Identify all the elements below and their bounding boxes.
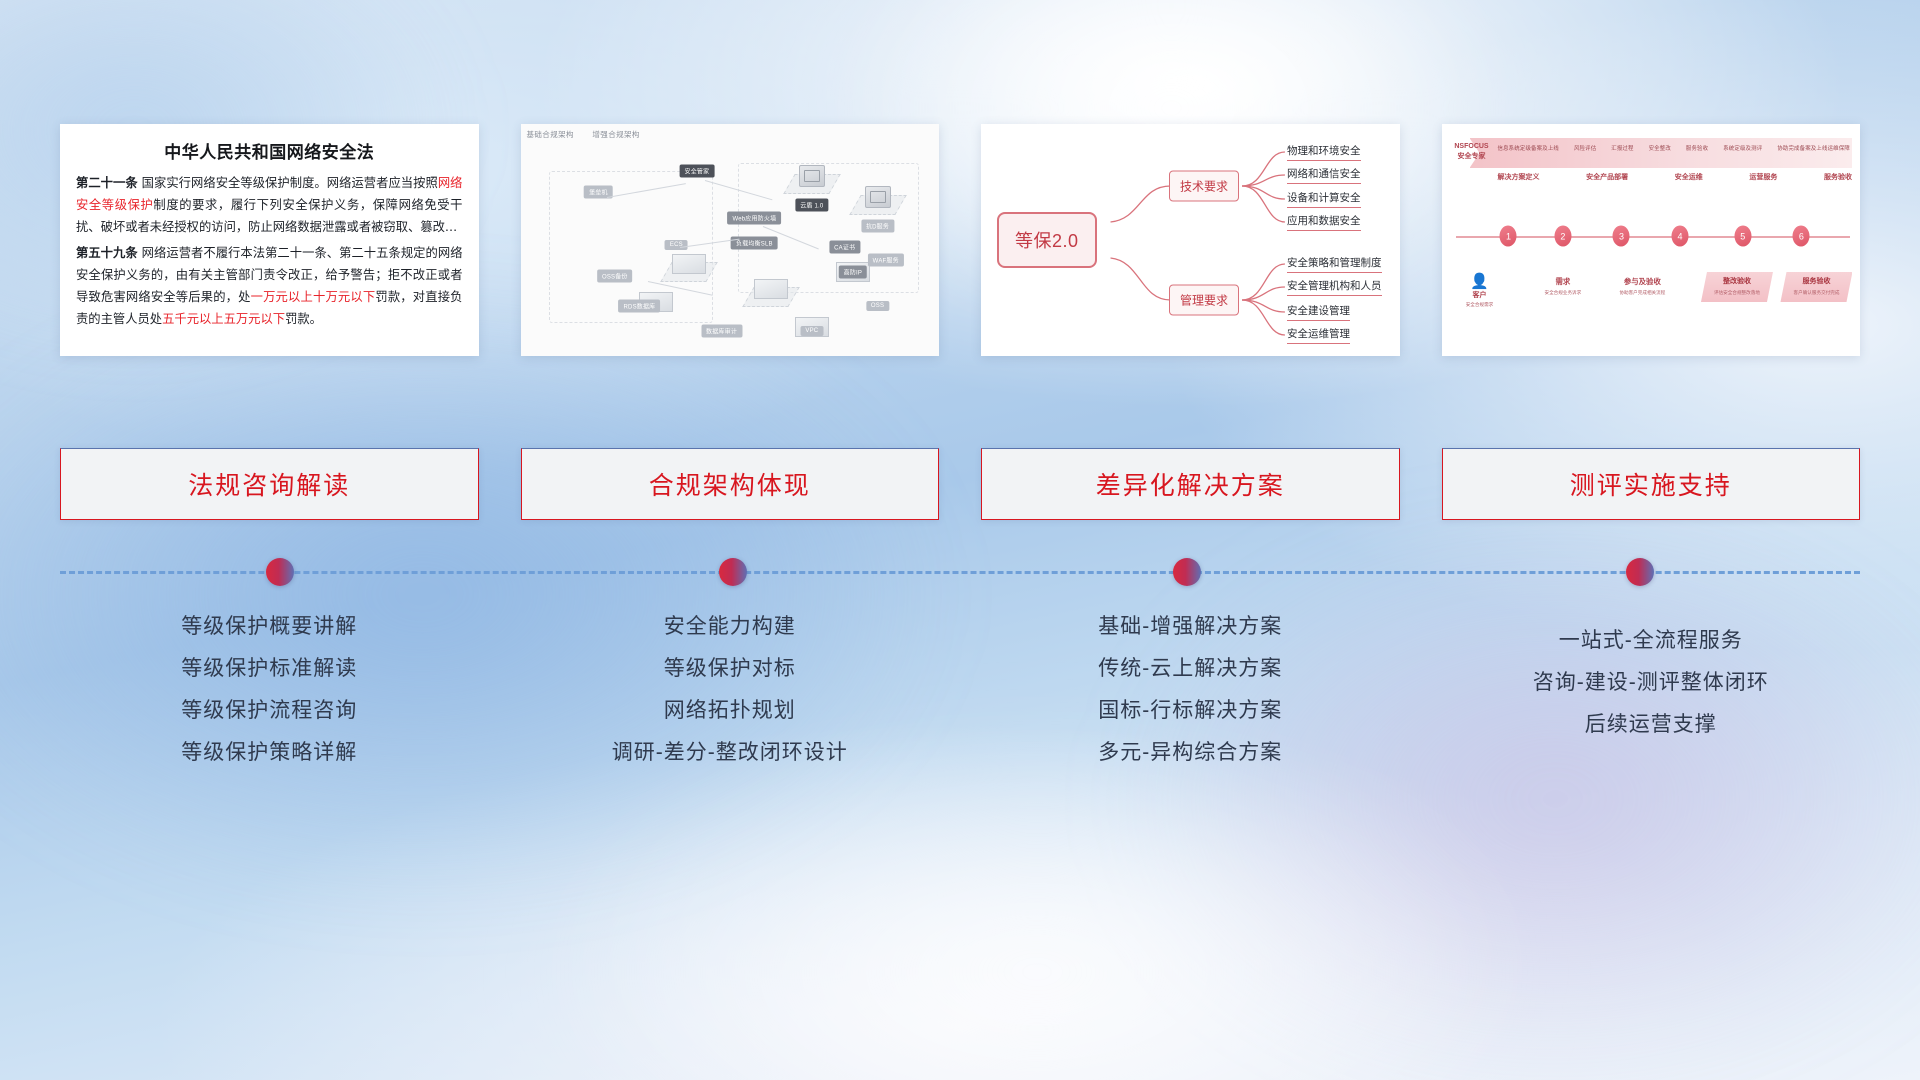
card-roadmap[interactable]: NSFOCUS 安全专家 信息系统定级备案及上线 风险评估 汇报过程 安全整改 …: [1442, 124, 1861, 356]
law-article-59: 第五十九条 网络运营者不履行本法第二十一条、第二十五条规定的网络安全保护义务的，…: [76, 242, 463, 330]
card-mindmap[interactable]: 等保2.0 技术要求 管理要求 物理和环境安全 网络和通信安全 设备和计算安全 …: [981, 124, 1400, 356]
architecture-node-10: OSS备份: [597, 270, 633, 283]
law-article-21-text-1: 国家实行网络安全等级保护制度。网络运营者应当按照: [138, 176, 438, 190]
roadmap-actor-client-name: 客户: [1452, 290, 1508, 300]
list-item: 调研-差分-整改闭环设计: [521, 732, 940, 774]
architecture-node-2: 云盾 1.0: [795, 199, 828, 212]
architecture-node-9: 高防IP: [839, 266, 867, 279]
list-item: 等级保护对标: [521, 648, 940, 690]
architecture-node-13: OSS: [866, 301, 889, 311]
background-glow-bottom: [538, 734, 1536, 1080]
roadmap-ribbon-item-4: 服务验收: [1686, 144, 1708, 152]
list-row: 等级保护概要讲解 等级保护标准解读 等级保护流程咨询 等级保护策略详解 安全能力…: [60, 600, 1860, 774]
roadmap-phase-1: 安全产品部署: [1586, 172, 1628, 182]
list-item: 一站式-全流程服务: [1442, 620, 1861, 662]
mindmap-leaf-tech-2: 设备和计算安全: [1287, 190, 1361, 208]
law-article-21-label: 第二十一条: [76, 176, 138, 190]
banner-evaluation-support[interactable]: 测评实施支持: [1442, 448, 1861, 520]
banner-differentiated-solution[interactable]: 差异化解决方案: [981, 448, 1400, 520]
roadmap-ribbon-items: 信息系统定级备案及上线 风险评估 汇报过程 安全整改 服务验收 系统定级及测评 …: [1498, 144, 1851, 152]
roadmap-ribbon-item-2: 汇报过程: [1611, 144, 1633, 152]
law-article-59-text-3: 罚款。: [285, 312, 322, 326]
roadmap-step-4: 4: [1672, 226, 1689, 247]
roadmap-actor-participate-desc: 协助客户完成相关流程: [1619, 289, 1665, 296]
architecture-node-11: RDS数据库: [619, 299, 661, 312]
law-article-21: 第二十一条 国家实行网络安全等级保护制度。网络运营者应当按照网络安全等级保护制度…: [76, 172, 463, 238]
preview-cards-row: 中华人民共和国网络安全法 第二十一条 国家实行网络安全等级保护制度。网络运营者应…: [60, 124, 1860, 356]
roadmap-step-5: 5: [1734, 226, 1751, 247]
architecture-node-8: CA证书: [829, 241, 860, 254]
list-item: 后续运营支撑: [1442, 704, 1861, 746]
roadmap-brand: NSFOCUS 安全专家: [1450, 142, 1494, 162]
roadmap-ribbon-item-3: 安全整改: [1649, 144, 1671, 152]
roadmap-ribbon-item-0: 信息系统定级备案及上线: [1498, 144, 1560, 152]
list-item: 基础-增强解决方案: [981, 606, 1400, 648]
roadmap-actor-demand-desc: 安全合规业务诉求: [1544, 289, 1581, 296]
list-column-2: 基础-增强解决方案 传统-云上解决方案 国标-行标解决方案 多元-异构综合方案: [981, 600, 1400, 774]
roadmap-actor-participate-name: 参与及验收: [1619, 276, 1665, 287]
list-item: 多元-异构综合方案: [981, 732, 1400, 774]
list-item: 网络拓扑规划: [521, 690, 940, 732]
list-item: 国标-行标解决方案: [981, 690, 1400, 732]
roadmap-step-2: 2: [1554, 226, 1571, 247]
roadmap-ribbon-item-6: 协助完成备案及上线运维保障: [1777, 144, 1850, 152]
mindmap-leaf-tech-3: 应用和数据安全: [1287, 213, 1361, 231]
roadmap-step-3: 3: [1613, 226, 1630, 247]
roadmap-phase-0: 解决方案定义: [1498, 172, 1540, 182]
mindmap-leaf-mgmt-3: 安全运维管理: [1287, 326, 1350, 344]
roadmap-ribbon: [1470, 138, 1853, 168]
banner-label-2: 差异化解决方案: [1096, 466, 1285, 502]
mindmap-leaf-mgmt-0: 安全策略和管理制度: [1287, 255, 1382, 273]
architecture-node-4: WAF服务: [868, 253, 904, 266]
roadmap-phase-2: 安全运维: [1675, 172, 1703, 182]
architecture-node-1: 安全管家: [680, 165, 715, 178]
law-title: 中华人民共和国网络安全法: [76, 138, 463, 163]
architecture-server-1: [799, 165, 825, 187]
roadmap-actor-participate: 参与及验收 协助客户完成相关流程: [1619, 276, 1665, 296]
list-item: 等级保护策略详解: [60, 732, 479, 774]
architecture-canvas: 堡垒机 安全管家 云盾 1.0 抗D服务 WAF服务 Web应用防火墙 负载均衡…: [525, 142, 936, 352]
list-item: 咨询-建设-测评整体闭环: [1442, 662, 1861, 704]
roadmap-brand-name: NSFOCUS: [1450, 142, 1494, 152]
architecture-node-12: VPC: [800, 326, 823, 336]
timeline-dot-2[interactable]: [1173, 558, 1201, 586]
list-item: 传统-云上解决方案: [981, 648, 1400, 690]
list-column-3: 一站式-全流程服务 咨询-建设-测评整体闭环 后续运营支撑: [1442, 600, 1861, 774]
architecture-header-left: 基础合规架构: [527, 130, 574, 139]
list-column-0: 等级保护概要讲解 等级保护标准解读 等级保护流程咨询 等级保护策略详解: [60, 600, 479, 774]
list-item: 安全能力构建: [521, 606, 940, 648]
architecture-header-right: 增强合规架构: [592, 130, 639, 139]
law-article-59-highlight-1: 一万元以上十万元以下: [251, 290, 376, 304]
roadmap-actor-demand: 需求 安全合规业务诉求: [1544, 276, 1581, 296]
list-item: 等级保护标准解读: [60, 648, 479, 690]
roadmap-phase-3: 运营服务: [1749, 172, 1777, 182]
roadmap-step-6: 6: [1793, 226, 1810, 247]
architecture-server-2: [865, 186, 891, 208]
roadmap-card-rectify-sub: 评估安全合规整改落地: [1710, 289, 1764, 297]
list-item: 等级保护流程咨询: [60, 690, 479, 732]
banner-compliance-architecture[interactable]: 合规架构体现: [521, 448, 940, 520]
list-item: 等级保护概要讲解: [60, 606, 479, 648]
timeline: [60, 558, 1860, 586]
law-article-59-label: 第五十九条: [76, 246, 138, 260]
roadmap-actor-client-desc: 安全合规需求: [1452, 301, 1508, 308]
architecture-node-5: Web应用防火墙: [727, 211, 781, 224]
architecture-node-14: 数据库审计: [701, 325, 742, 338]
roadmap-actor-client: 👤 客户 安全合规需求: [1452, 274, 1508, 308]
roadmap-phase-4: 服务验收: [1824, 172, 1852, 182]
architecture-node-7: ECS: [665, 240, 688, 250]
banner-label-0: 法规咨询解读: [188, 466, 350, 502]
mindmap-leaf-tech-0: 物理和环境安全: [1287, 143, 1361, 161]
mindmap-leaf-mgmt-1: 安全管理机构和人员: [1287, 278, 1382, 296]
roadmap-card-rectify: 整改验收 评估安全合规整改落地: [1701, 272, 1773, 302]
roadmap-card-accept: 服务验收 客户确认服务交付完成: [1780, 272, 1852, 302]
roadmap-brand-sub: 安全专家: [1450, 152, 1494, 162]
mindmap-leaf-mgmt-2: 安全建设管理: [1287, 303, 1350, 321]
person-icon: 👤: [1452, 274, 1508, 290]
law-article-59-highlight-2: 五千元以上五万元以下: [162, 312, 285, 326]
banner-regulation-consulting[interactable]: 法规咨询解读: [60, 448, 479, 520]
mindmap-root: 等保2.0: [997, 212, 1097, 268]
timeline-dot-1[interactable]: [719, 558, 747, 586]
roadmap-card-accept-title: 服务验收: [1789, 277, 1843, 287]
roadmap-ribbon-item-5: 系统定级及测评: [1723, 144, 1762, 152]
roadmap-actor-demand-name: 需求: [1544, 276, 1581, 287]
timeline-dashed-line: [60, 571, 1860, 574]
roadmap-card-accept-sub: 客户确认服务交付完成: [1789, 289, 1843, 297]
architecture-hex-1: [672, 254, 706, 274]
roadmap-card-rectify-title: 整改验收: [1710, 277, 1764, 287]
banner-row: 法规咨询解读 合规架构体现 差异化解决方案 测评实施支持: [60, 448, 1860, 520]
architecture-header: 基础合规架构 增强合规架构: [527, 129, 656, 140]
roadmap-ribbon-item-1: 风险评估: [1574, 144, 1596, 152]
mindmap-branch-management: 管理要求: [1169, 285, 1239, 316]
timeline-dot-0[interactable]: [266, 558, 294, 586]
card-law-document[interactable]: 中华人民共和国网络安全法 第二十一条 国家实行网络安全等级保护制度。网络运营者应…: [60, 124, 479, 356]
mindmap-leaf-tech-1: 网络和通信安全: [1287, 166, 1361, 184]
mindmap-branch-technical: 技术要求: [1169, 171, 1239, 202]
list-column-1: 安全能力构建 等级保护对标 网络拓扑规划 调研-差分-整改闭环设计: [521, 600, 940, 774]
banner-label-1: 合规架构体现: [649, 466, 811, 502]
architecture-node-3: 抗D服务: [861, 220, 894, 233]
card-architecture-diagram[interactable]: 基础合规架构 增强合规架构 堡垒机 安全管家 云盾 1.0 抗D服务 WAF服务…: [521, 124, 940, 356]
roadmap-phases: 解决方案定义 安全产品部署 安全运维 运营服务 服务验收: [1498, 172, 1853, 182]
architecture-hex-2: [754, 279, 788, 299]
timeline-dot-3[interactable]: [1626, 558, 1654, 586]
roadmap-step-1: 1: [1500, 226, 1517, 247]
banner-label-3: 测评实施支持: [1570, 466, 1732, 502]
